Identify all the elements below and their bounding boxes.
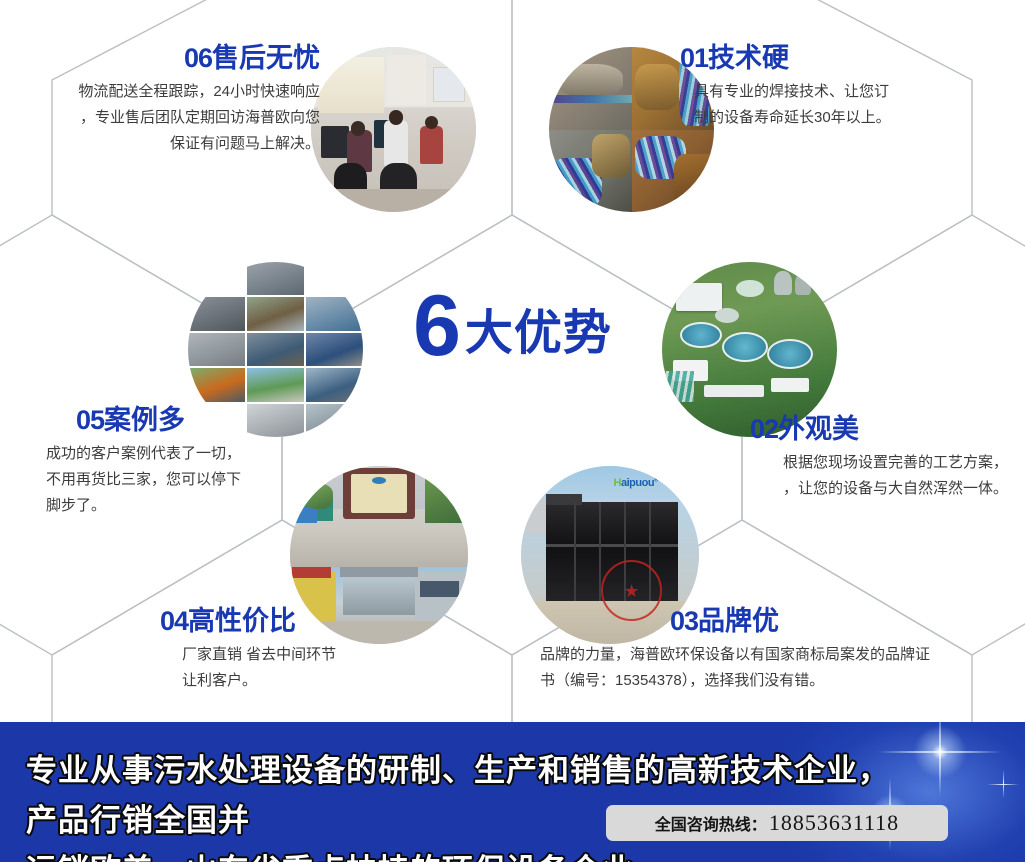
feature-body-line: 书（编号：15354378），选择我们没有错。 [540, 668, 1010, 694]
feature-image-02-aerial-wastewater-plant-photo [662, 262, 837, 437]
feature-title-05: 案例多 [104, 405, 185, 435]
feature-title-06: 售后无忧 [212, 43, 320, 73]
feature-body-line: 脚步了。 [46, 493, 346, 519]
feature-image-06-office-staff-photo [311, 47, 476, 212]
feature-text-04: 04高性价比 厂家直销 省去中间环节 让利客户。 [160, 607, 450, 694]
feature-body-05: 成功的客户案例代表了一切， 不用再货比三家，您可以停下 脚步了。 [46, 441, 346, 520]
feature-body-line: 成功的客户案例代表了一切， [46, 441, 346, 467]
feature-title-02: 外观美 [778, 414, 859, 444]
feature-body-line: 厂家直销 省去中间环节 [182, 642, 450, 668]
feature-number-04: 04 [160, 606, 188, 636]
feature-number-06: 06 [184, 43, 212, 73]
hotline-box[interactable]: 全国咨询热线： 18853631118 [606, 805, 948, 841]
feature-body-04: 厂家直销 省去中间环节 让利客户。 [160, 642, 450, 695]
feature-title-04: 高性价比 [188, 606, 296, 636]
feature-number-01: 01 [680, 43, 708, 73]
feature-title-03: 品牌优 [698, 606, 779, 636]
feature-text-03: 03品牌优 品牌的力量，海普欧环保设备以有国家商标局案发的品牌证 书（编号：15… [540, 607, 1010, 694]
feature-heading-06: 06售后无忧 [14, 44, 320, 74]
feature-body-line: 具有专业的焊接技术、让您订 [694, 79, 1010, 105]
feature-heading-03: 03品牌优 [540, 607, 1010, 637]
feature-heading-02: 02外观美 [690, 415, 1008, 445]
feature-body-line: ，让您的设备与大自然浑然一体。 [690, 476, 1008, 502]
feature-body-line: 品牌的力量，海普欧环保设备以有国家商标局案发的品牌证 [540, 642, 1010, 668]
banner-slogan-line2: 远销欧美，山东省重点扶持的环保设备企业。 [26, 846, 906, 862]
feature-heading-05: 05案例多 [46, 406, 346, 436]
hotline-label: 全国咨询热线： [655, 811, 767, 835]
feature-number-05: 05 [76, 405, 104, 435]
feature-body-01: 具有专业的焊接技术、让您订 制的设备寿命延长30年以上。 [680, 79, 1010, 132]
feature-text-02: 02外观美 根据您现场设置完善的工艺方案， ，让您的设备与大自然浑然一体。 [690, 415, 1008, 502]
brand-wordmark: Haipuou® [614, 477, 658, 489]
feature-title-01: 技术硬 [708, 43, 789, 73]
bottom-banner: 专业从事污水处理设备的研制、生产和销售的高新技术企业，产品行销全国并 远销欧美，… [0, 722, 1025, 862]
feature-body-06: 物流配送全程跟踪，24小时快速响应 ，专业售后团队定期回访海普欧向您 保证有问题… [14, 79, 320, 158]
feature-body-line: 不用再货比三家，您可以停下 [46, 467, 346, 493]
feature-body-line: 制的设备寿命延长30年以上。 [694, 105, 1010, 131]
feature-body-line: 让利客户。 [182, 668, 450, 694]
feature-text-05: 05案例多 成功的客户案例代表了一切， 不用再货比三家，您可以停下 脚步了。 [46, 406, 346, 519]
banner-slogan: 专业从事污水处理设备的研制、生产和销售的高新技术企业，产品行销全国并 远销欧美，… [26, 746, 906, 862]
feature-heading-01: 01技术硬 [680, 44, 1010, 74]
feature-text-06: 06售后无忧 物流配送全程跟踪，24小时快速响应 ，专业售后团队定期回访海普欧向… [14, 44, 320, 157]
promo-infographic: 6大优势 [0, 0, 1025, 862]
feature-number-03: 03 [670, 606, 698, 636]
feature-number-02: 02 [750, 414, 778, 444]
hotline-number: 18853631118 [769, 810, 899, 836]
feature-body-line: ，专业售后团队定期回访海普欧向您 [14, 105, 320, 131]
feature-body-line: 物流配送全程跟踪，24小时快速响应 [14, 79, 320, 105]
feature-body-03: 品牌的力量，海普欧环保设备以有国家商标局案发的品牌证 书（编号：15354378… [540, 642, 1010, 695]
feature-heading-04: 04高性价比 [160, 607, 450, 637]
feature-body-line: 根据您现场设置完善的工艺方案， [690, 450, 1008, 476]
feature-text-01: 01技术硬 具有专业的焊接技术、让您订 制的设备寿命延长30年以上。 [680, 44, 1010, 131]
feature-body-line: 保证有问题马上解决。 [14, 131, 320, 157]
feature-body-02: 根据您现场设置完善的工艺方案， ，让您的设备与大自然浑然一体。 [690, 450, 1008, 503]
